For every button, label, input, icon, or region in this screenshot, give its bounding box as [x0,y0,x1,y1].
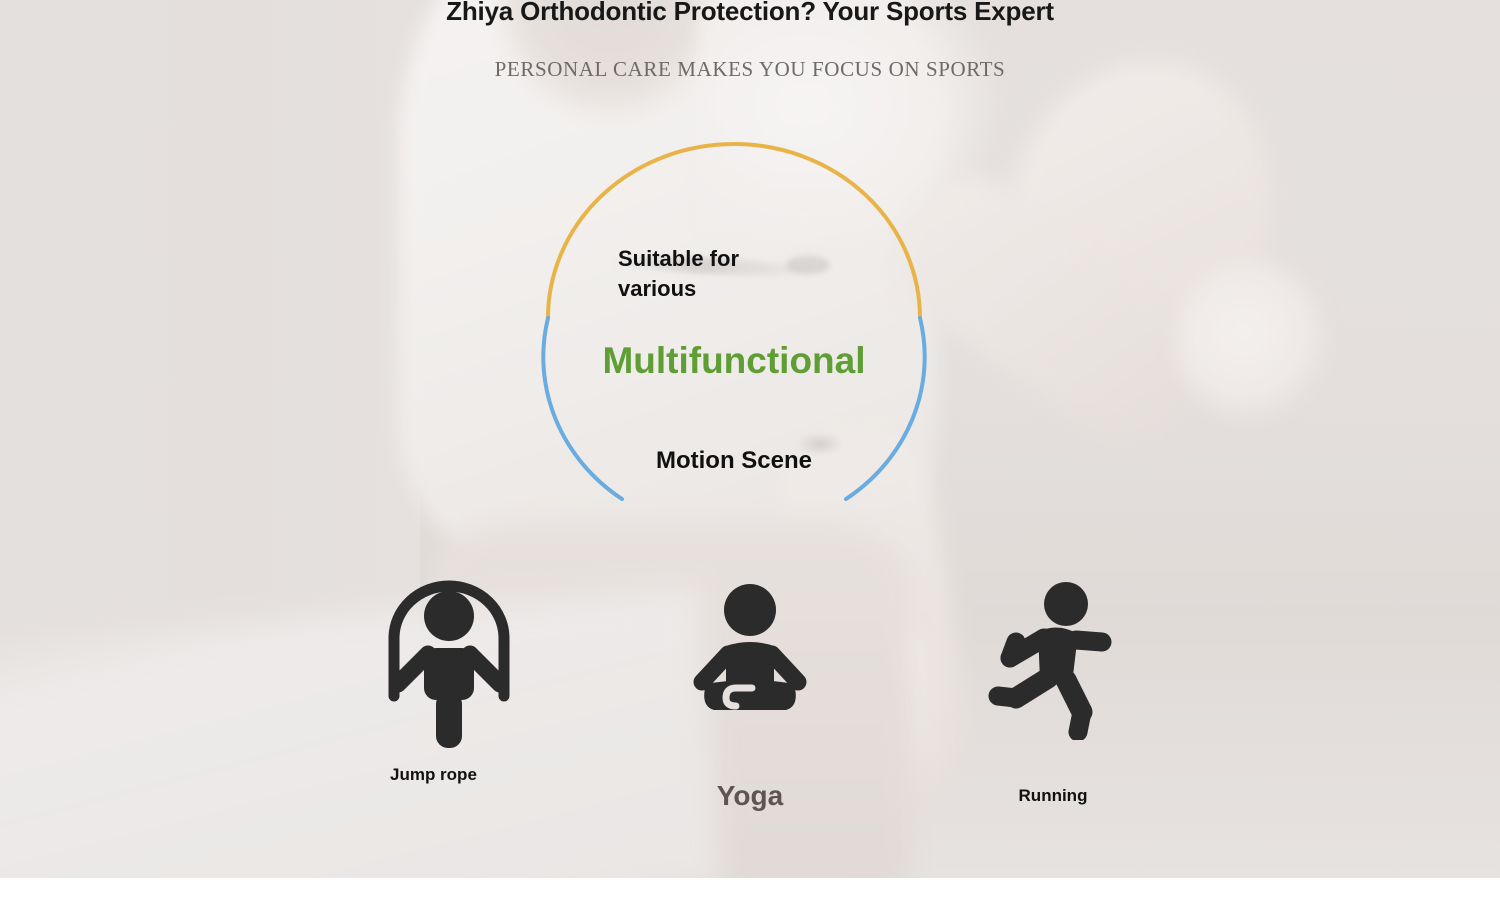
promo-banner: Zhiya Orthodontic Protection? Your Sport… [0,0,1500,907]
sport-item-jump-rope[interactable]: Jump rope [368,568,528,785]
page-title: Zhiya Orthodontic Protection? Your Sport… [0,0,1500,27]
jump-rope-icon [384,568,514,748]
badge-bottom-label: Motion Scene [544,447,924,475]
yoga-lotus-icon [690,580,810,730]
running-person-icon [986,580,1126,740]
sport-label-running: Running [968,786,1138,806]
sport-item-yoga[interactable]: Yoga [660,580,840,812]
badge-headline: Multifunctional [544,340,924,382]
badge-top-label: Suitable for various [618,244,808,303]
multifunctional-badge: Suitable for various Multifunctional Mot… [544,172,924,524]
sport-label-jump-rope: Jump rope [390,764,486,785]
sport-label-yoga: Yoga [660,780,840,812]
bottom-white-strip [0,878,1500,907]
sport-item-running[interactable]: Running [968,580,1138,806]
page-subtitle: PERSONAL CARE MAKES YOU FOCUS ON SPORTS [0,57,1500,82]
